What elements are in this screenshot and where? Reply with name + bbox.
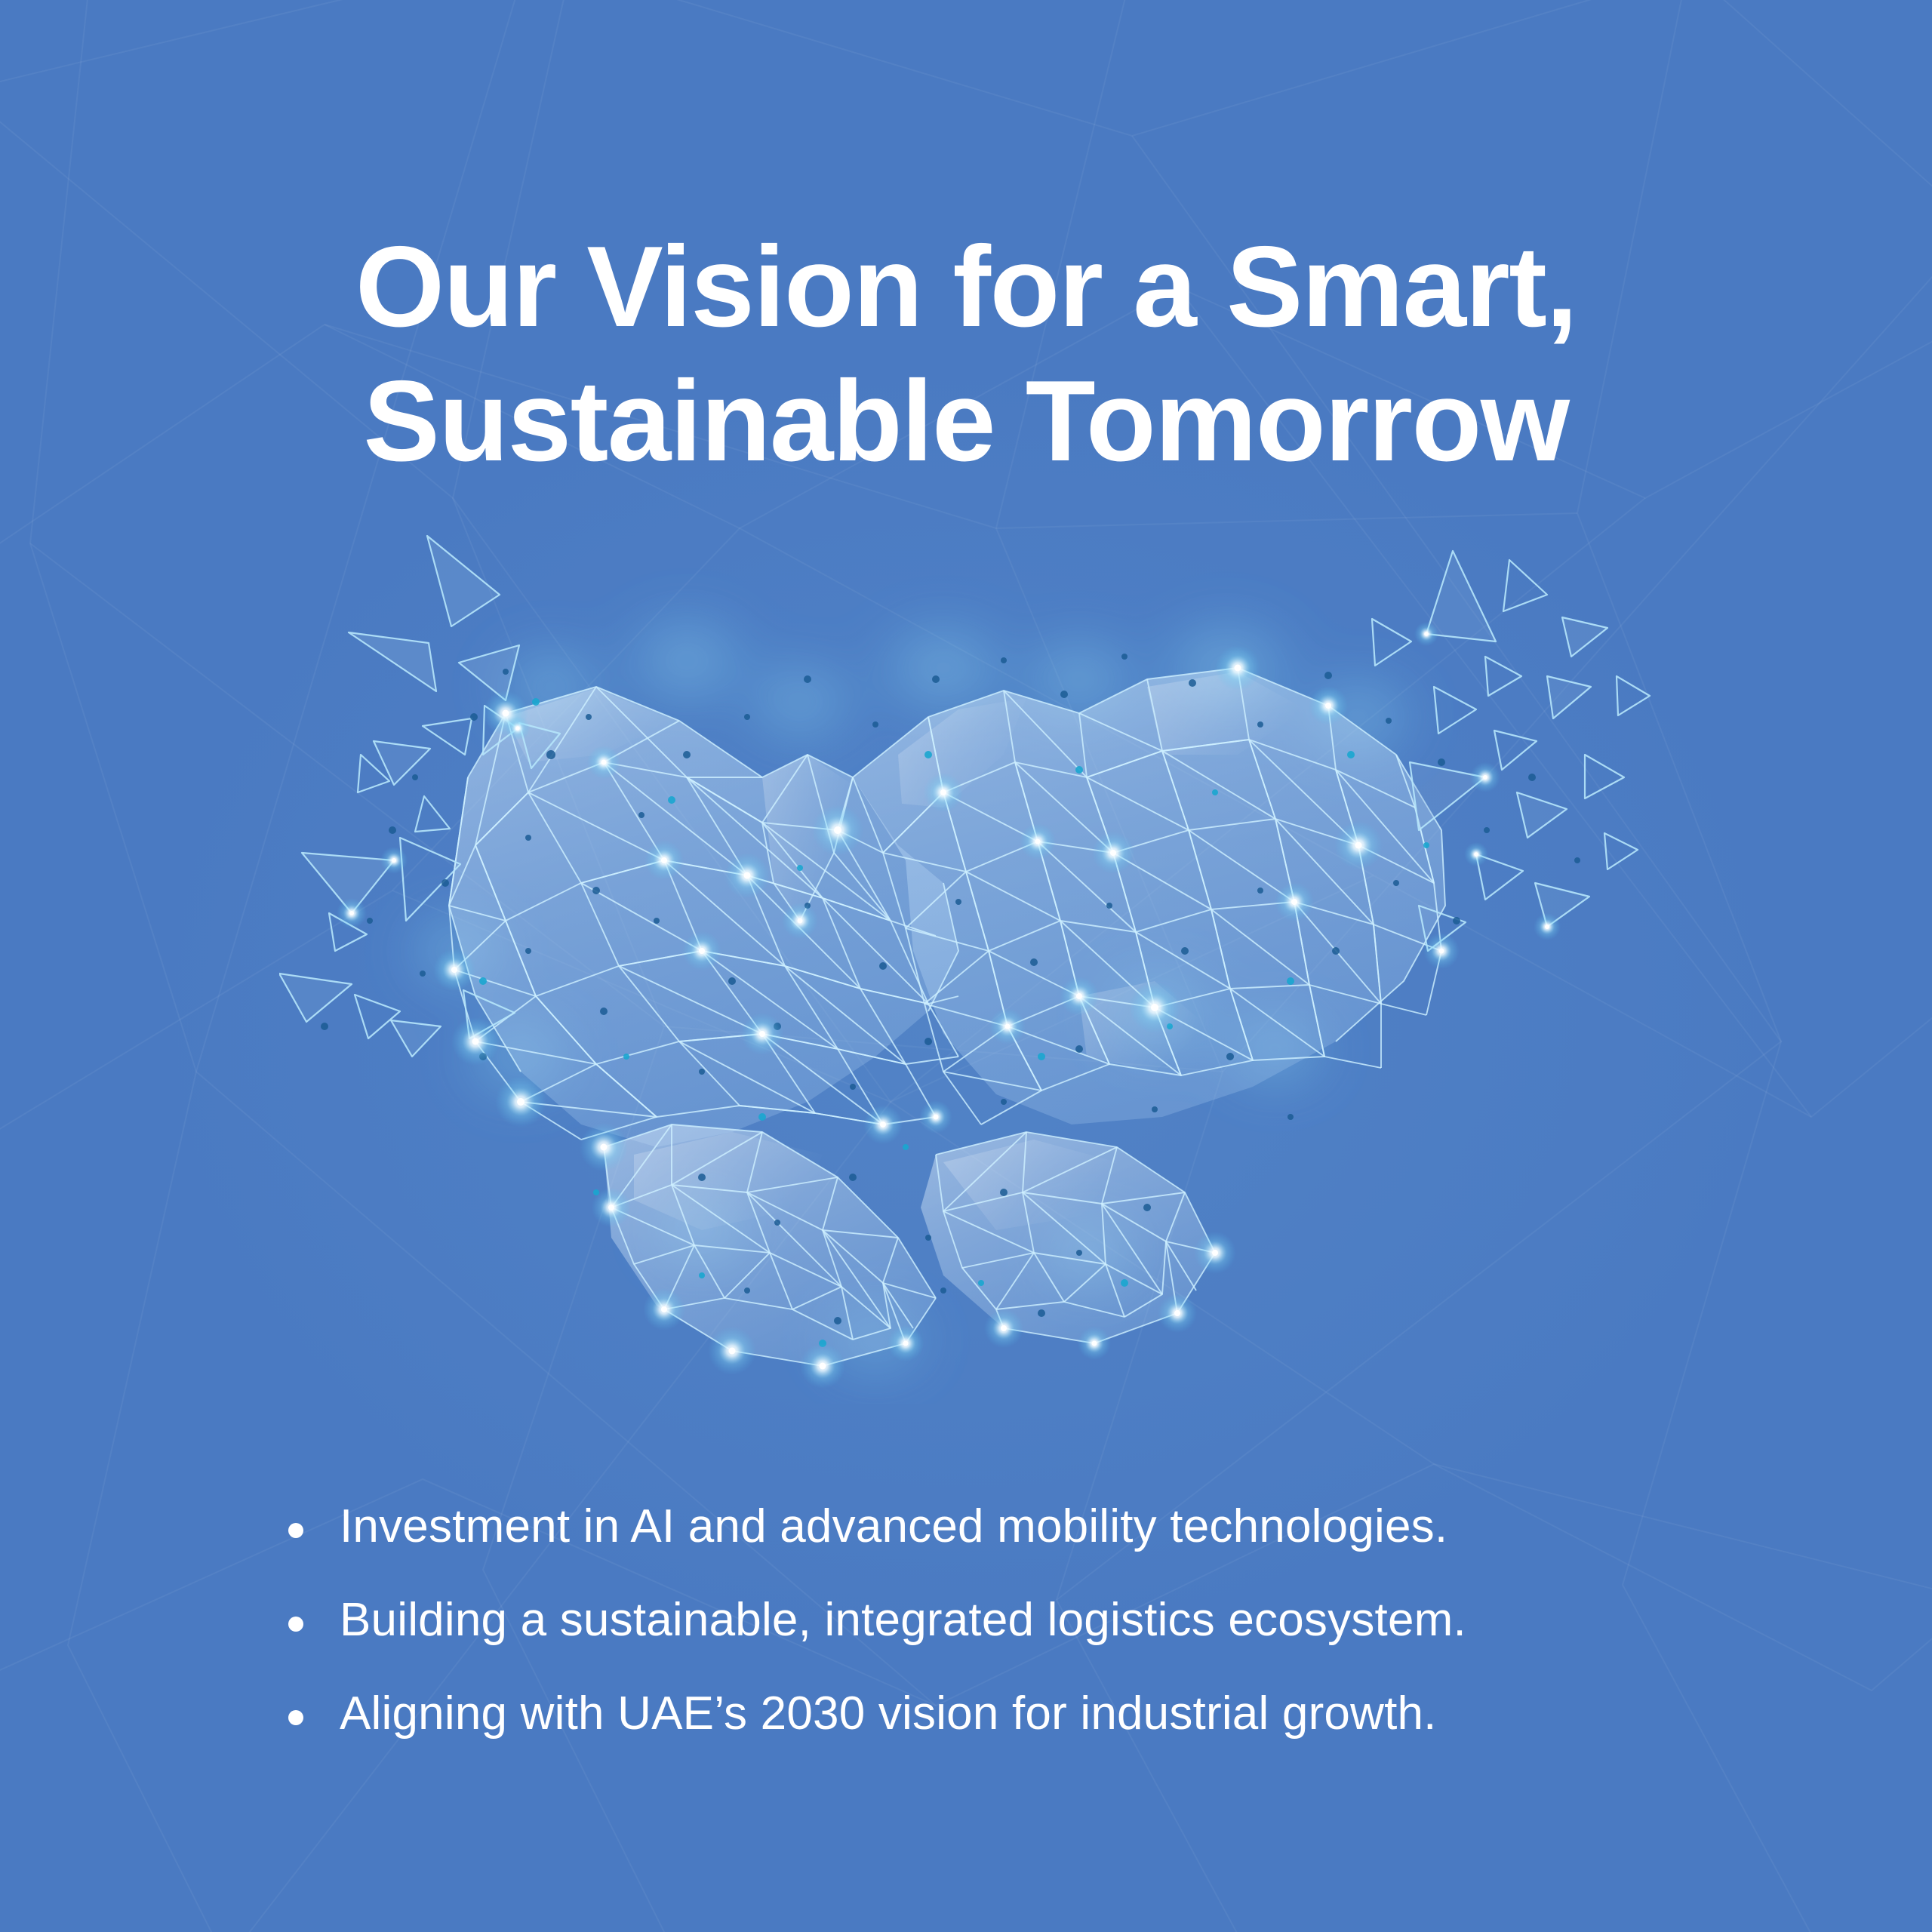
bullet-dot-icon <box>288 1617 303 1632</box>
bullet-dot-icon <box>288 1523 303 1538</box>
slide-root: Our Vision for a Smart, Sustainable Tomo… <box>0 0 1932 1932</box>
list-item: Aligning with UAE’s 2030 vision for indu… <box>288 1690 1684 1737</box>
bullet-text: Building a sustainable, integrated logis… <box>340 1597 1684 1644</box>
handshake-illustration <box>279 528 1660 1404</box>
bullet-text: Investment in AI and advanced mobility t… <box>340 1503 1684 1550</box>
list-item: Investment in AI and advanced mobility t… <box>288 1503 1684 1550</box>
bullet-text: Aligning with UAE’s 2030 vision for indu… <box>340 1690 1684 1737</box>
list-item: Building a sustainable, integrated logis… <box>288 1597 1684 1644</box>
bullet-dot-icon <box>288 1710 303 1725</box>
bullet-list: Investment in AI and advanced mobility t… <box>288 1503 1684 1737</box>
handshake-svg <box>279 528 1660 1404</box>
page-title: Our Vision for a Smart, Sustainable Tomo… <box>0 220 1932 489</box>
